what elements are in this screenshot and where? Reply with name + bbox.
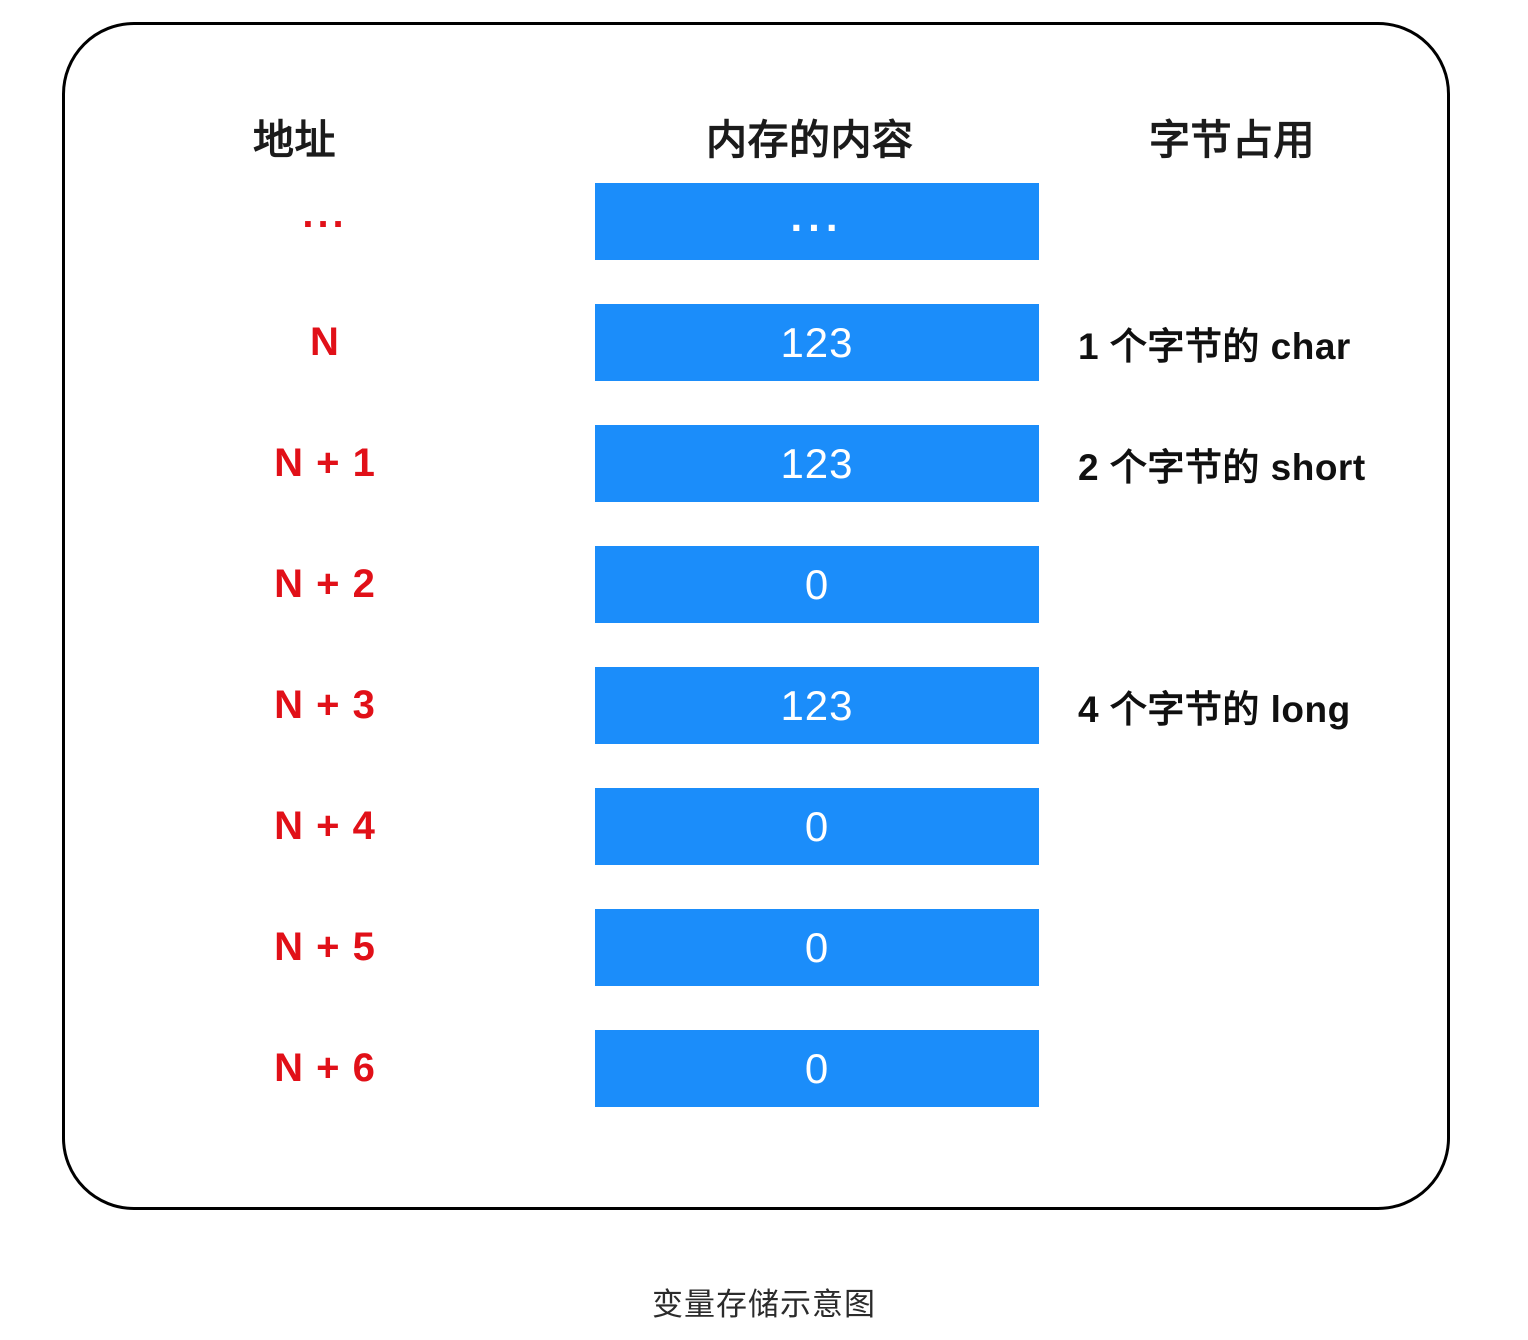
memory-cell-value: ... xyxy=(790,196,843,248)
memory-address-label: N xyxy=(180,304,470,381)
memory-rows-container: ......N1231 个字节的 charN + 11232 个字节的 shor… xyxy=(0,0,1528,1340)
memory-cell-bar: 0 xyxy=(595,546,1039,623)
memory-address-label: N + 6 xyxy=(180,1030,470,1107)
memory-cell-bar: 0 xyxy=(595,1030,1039,1107)
memory-row: N + 20 xyxy=(0,546,1528,623)
memory-address-label: N + 2 xyxy=(180,546,470,623)
memory-row: N + 11232 个字节的 short xyxy=(0,425,1528,502)
memory-cell-bar: 123 xyxy=(595,425,1039,502)
memory-row: ...... xyxy=(0,183,1528,260)
memory-cell-bar: ... xyxy=(595,183,1039,260)
byte-usage-note: 4 个字节的 long xyxy=(1078,667,1478,744)
memory-row: N + 31234 个字节的 long xyxy=(0,667,1528,744)
memory-address-label: N + 5 xyxy=(180,909,470,986)
memory-cell-value: 123 xyxy=(780,443,853,485)
memory-row: N + 40 xyxy=(0,788,1528,865)
memory-cell-value: 123 xyxy=(780,322,853,364)
memory-cell-value: 0 xyxy=(805,1048,829,1090)
byte-usage-note: 1 个字节的 char xyxy=(1078,304,1478,381)
memory-row: N1231 个字节的 char xyxy=(0,304,1528,381)
memory-cell-value: 123 xyxy=(780,685,853,727)
memory-cell-value: 0 xyxy=(805,927,829,969)
memory-cell-bar: 123 xyxy=(595,667,1039,744)
memory-cell-value: 0 xyxy=(805,806,829,848)
memory-cell-bar: 0 xyxy=(595,788,1039,865)
memory-row: N + 60 xyxy=(0,1030,1528,1107)
byte-usage-note: 2 个字节的 short xyxy=(1078,425,1478,502)
memory-address-label: ... xyxy=(180,183,470,260)
memory-cell-bar: 123 xyxy=(595,304,1039,381)
memory-cell-bar: 0 xyxy=(595,909,1039,986)
memory-row: N + 50 xyxy=(0,909,1528,986)
memory-address-label: N + 1 xyxy=(180,425,470,502)
diagram-caption: 变量存储示意图 xyxy=(0,1279,1528,1324)
memory-address-label: N + 4 xyxy=(180,788,470,865)
memory-cell-value: 0 xyxy=(805,564,829,606)
memory-address-label: N + 3 xyxy=(180,667,470,744)
